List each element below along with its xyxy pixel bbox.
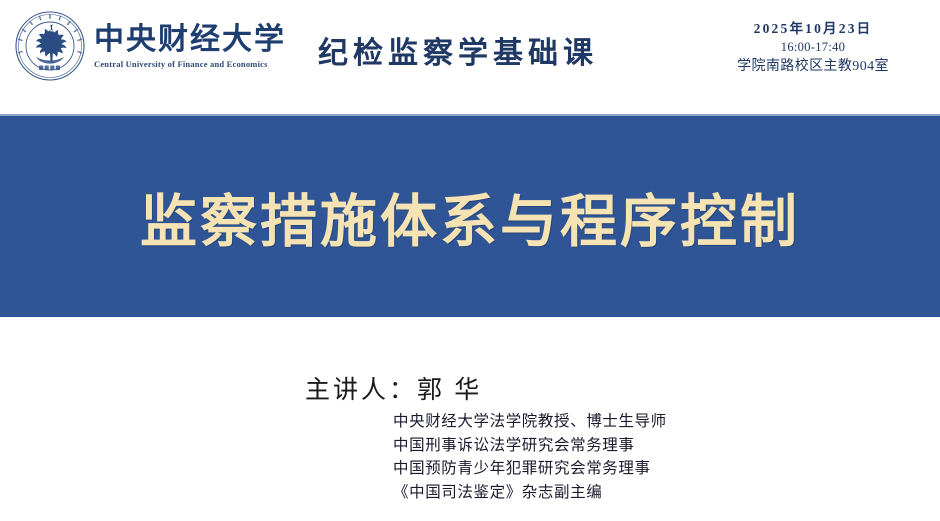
slide-main-title: 监察措施体系与程序控制 [140, 176, 800, 258]
speaker-name: 主讲人：郭 华 [305, 370, 482, 406]
session-meta: 2025年10月23日 16:00-17:40 学院南路校区主教904室 [698, 20, 928, 77]
university-name-en: Central University of Finance and Econom… [94, 59, 286, 69]
session-venue: 学院南路校区主教904室 [698, 57, 928, 77]
credential-line: 《中国司法鉴定》杂志副主编 [393, 481, 667, 505]
university-name-cn: 中央财经大学 [94, 23, 286, 57]
university-wordmark: 中央财经大学 Central University of Finance and… [94, 23, 286, 70]
credential-line: 中国预防青少年犯罪研究会常务理事 [393, 457, 667, 481]
university-logo: 中央财经大学 Central University of Finance and… [14, 10, 286, 82]
slide-header: 中央财经大学 Central University of Finance and… [0, 0, 940, 112]
presentation-slide: 中央财经大学 Central University of Finance and… [0, 0, 940, 521]
session-time: 16:00-17:40 [698, 38, 928, 57]
speaker-credentials: 中央财经大学法学院教授、博士生导师 中国刑事诉讼法学研究会常务理事 中国预防青少… [393, 410, 667, 504]
session-date: 2025年10月23日 [698, 20, 928, 38]
credential-line: 中央财经大学法学院教授、博士生导师 [393, 410, 667, 434]
university-seal-icon [14, 10, 86, 82]
credential-line: 中国刑事诉讼法学研究会常务理事 [393, 434, 667, 458]
title-banner: 监察措施体系与程序控制 [0, 116, 940, 317]
course-title: 纪检监察学基础课 [318, 28, 598, 72]
